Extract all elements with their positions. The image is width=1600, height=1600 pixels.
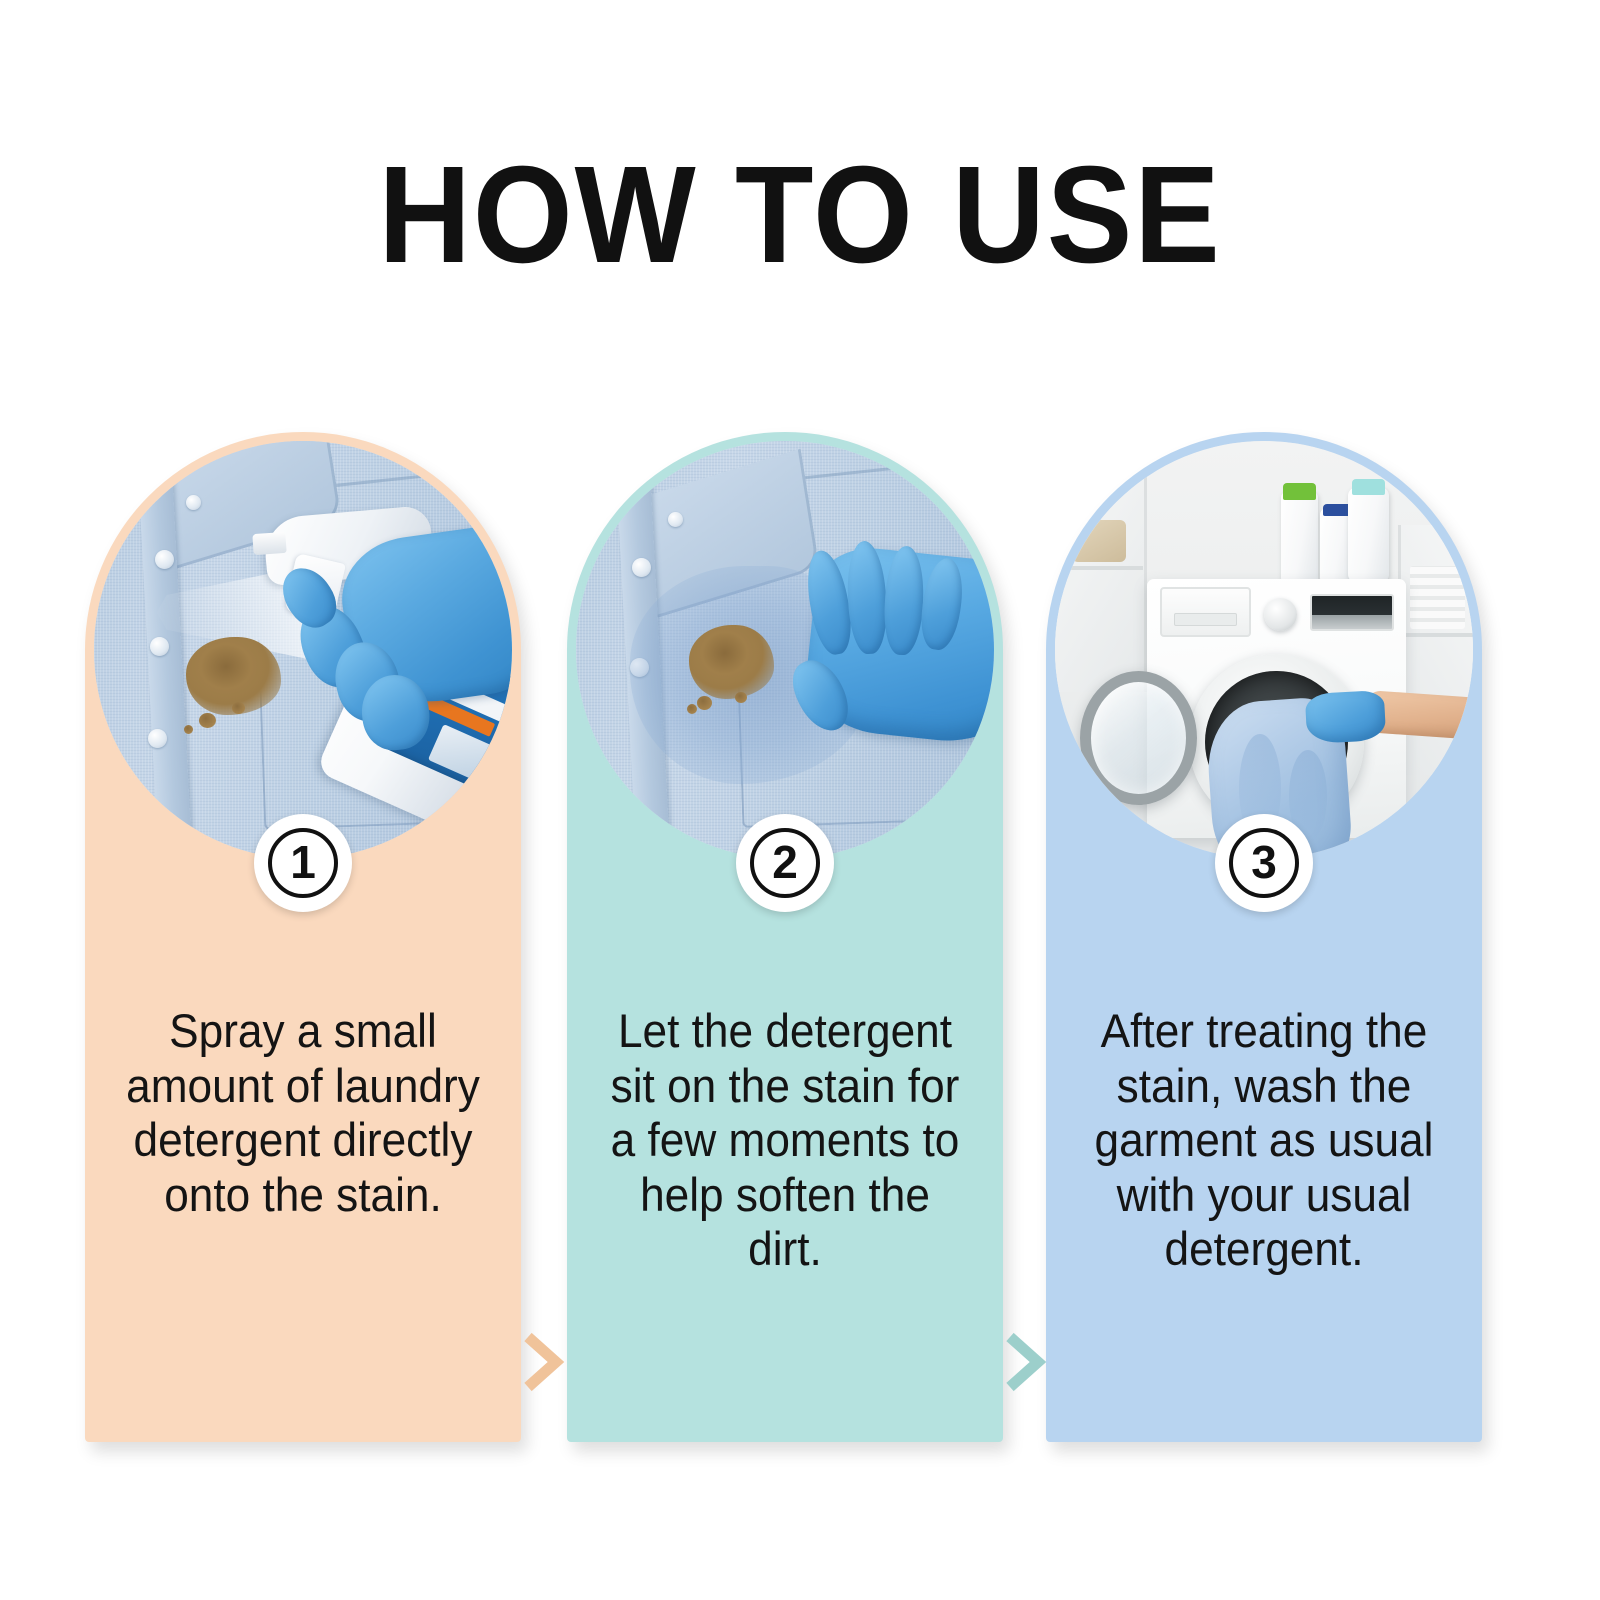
spray-detergent-scene <box>94 441 512 859</box>
step-number-3: 3 <box>1229 828 1299 898</box>
washer-door-glass <box>1080 671 1197 805</box>
step-badge-3: 3 <box>1215 814 1313 912</box>
control-display <box>1310 594 1394 632</box>
stain-splatter-dot <box>199 713 216 728</box>
step-caption-3: After treating the stain, wash the garme… <box>1072 1004 1456 1277</box>
shelf-board <box>1402 633 1473 637</box>
step-card-2: 2 Let the detergent sit on the stain for… <box>567 432 1003 1442</box>
detergent-bottle-cap-green <box>1283 483 1316 500</box>
step-caption-2: Let the detergent sit on the stain for a… <box>593 1004 977 1277</box>
brown-stain <box>689 625 774 699</box>
blue-glove-hand <box>1305 690 1387 744</box>
steps-row: 1 Spray a small amount of laundry deterg… <box>0 432 1600 1447</box>
step-number-1: 1 <box>268 828 338 898</box>
detergent-bottle <box>1348 487 1390 583</box>
step-card-1: 1 Spray a small amount of laundry deterg… <box>85 432 521 1442</box>
step-badge-2: 2 <box>736 814 834 912</box>
left-shelf-unit <box>1055 474 1147 691</box>
spray-nozzle-icon <box>252 532 287 555</box>
step-number-2: 2 <box>750 828 820 898</box>
step-3-image <box>1055 441 1473 859</box>
step-caption-1: Spray a small amount of laundry detergen… <box>111 1004 495 1222</box>
page-title: HOW TO USE <box>56 146 1544 284</box>
how-to-use-infographic: HOW TO USE <box>0 0 1600 1600</box>
detergent-soaking-scene <box>576 441 994 859</box>
chevron-right-icon <box>518 1329 566 1395</box>
shirt-button-icon <box>155 550 174 569</box>
chevron-right-icon <box>1000 1329 1048 1395</box>
detergent-dispenser-drawer <box>1160 587 1252 637</box>
step-1-image <box>94 441 512 859</box>
laundry-room-scene <box>1055 441 1473 859</box>
shirt-collar-button-icon <box>668 512 683 527</box>
wicker-basket <box>1072 520 1126 562</box>
dispenser-handle <box>1174 613 1237 626</box>
detergent-bottle <box>1281 491 1319 583</box>
step-2-image <box>576 441 994 859</box>
stain-splatter-dot <box>735 692 747 703</box>
folded-towels <box>1410 566 1464 629</box>
step-badge-1: 1 <box>254 814 352 912</box>
shelf-board <box>1055 566 1143 570</box>
detergent-bottle-cap-teal <box>1352 479 1385 496</box>
step-card-3: 3 After treating the stain, wash the gar… <box>1046 432 1482 1442</box>
